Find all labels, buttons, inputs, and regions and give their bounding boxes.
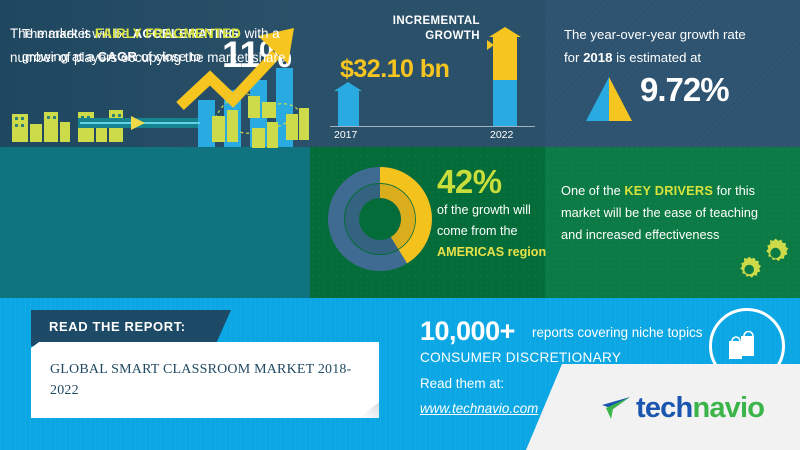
reports-count-caption: reports covering niche topics xyxy=(532,325,702,340)
incremental-growth-value: $32.10 bn xyxy=(340,55,449,84)
yoy-statement: The year-over-year growth rate for 2018 … xyxy=(564,23,794,69)
bottom-row: READ THE REPORT: GLOBAL SMART CLASSROOM … xyxy=(0,298,800,450)
americas-statement: of the growth will come from the AMERICA… xyxy=(437,200,549,263)
reports-count: 10,000+ xyxy=(420,316,515,347)
read-them-at-label: Read them at: xyxy=(420,376,504,391)
technavio-url-link[interactable]: www.technavio.com xyxy=(420,401,538,416)
city-buildings-icon xyxy=(0,88,310,148)
bar-2022-base xyxy=(493,80,517,126)
bar-2022-increment xyxy=(493,36,517,80)
incremental-label-line2: GROWTH xyxy=(425,30,480,42)
report-card[interactable]: GLOBAL SMART CLASSROOM MARKET 2018-2022 xyxy=(31,342,379,418)
technavio-logo: technavio xyxy=(598,391,764,425)
drivers-text-1: One of the xyxy=(561,183,624,198)
yoy-value: 9.72% xyxy=(640,71,729,109)
yoy-bold-year: 2018 xyxy=(583,50,612,65)
yoy-text-2: for xyxy=(564,50,583,65)
read-the-report-banner: READ THE REPORT: xyxy=(31,310,231,346)
growth-triangle-icon xyxy=(586,77,632,121)
shopping-bags-icon xyxy=(726,324,764,362)
logo-word-navio: navio xyxy=(692,394,764,423)
incremental-growth-label: INCREMENTAL GROWTH xyxy=(340,14,480,44)
panel-fragmentation xyxy=(0,147,310,298)
fragmentation-text-1: The market is xyxy=(10,26,95,41)
drivers-bold: KEY DRIVERS xyxy=(624,183,713,198)
read-the-report-label: READ THE REPORT: xyxy=(49,319,186,334)
americas-text-1: of the growth will xyxy=(437,203,531,217)
segment-label: CONSUMER DISCRETIONARY xyxy=(420,350,621,365)
americas-bold-region: AMERICAS region xyxy=(437,245,546,259)
fragmentation-statement: The market is FAIRLY FRAGMENTED with a n… xyxy=(10,22,302,70)
gears-icon xyxy=(726,232,790,292)
axis-label-2017: 2017 xyxy=(334,129,357,141)
americas-text-2: come from the xyxy=(437,224,518,238)
report-title: GLOBAL SMART CLASSROOM MARKET 2018-2022 xyxy=(50,359,360,401)
donut-chart-icon xyxy=(328,167,432,271)
yoy-text-3: is estimated at xyxy=(612,50,701,65)
axis-line xyxy=(330,126,535,127)
americas-value: 42% xyxy=(437,163,502,201)
axis-label-2022: 2022 xyxy=(490,129,513,141)
logo-word-tech: tech xyxy=(636,394,692,423)
paper-plane-icon xyxy=(598,395,632,421)
incremental-label-line1: INCREMENTAL xyxy=(393,15,480,27)
infographic: The market will be ACCELERATING growing … xyxy=(0,0,800,450)
yoy-text-1: The year-over-year growth rate xyxy=(564,27,746,42)
bar-2017 xyxy=(338,90,359,126)
fragmentation-bold: FAIRLY FRAGMENTED xyxy=(95,26,241,41)
